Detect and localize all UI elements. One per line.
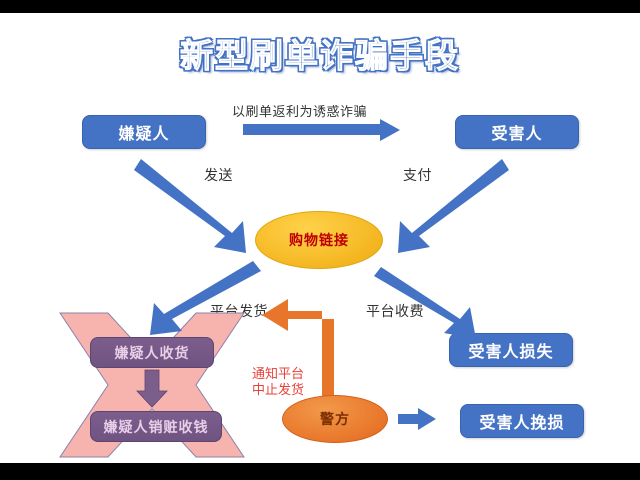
page-title: 新型刷单诈骗手段 bbox=[0, 29, 640, 77]
screenshot-frame: 新型刷单诈骗手段 bbox=[0, 0, 640, 480]
edge-label-notify-platform: 通知平台 中止发货 bbox=[252, 367, 304, 399]
edge-label-pay: 支付 bbox=[403, 165, 432, 185]
arrow-receive-to-fence bbox=[137, 370, 167, 407]
notify-line-2: 中止发货 bbox=[252, 383, 304, 399]
node-suspect-fence[interactable]: 嫌疑人销赃收钱 bbox=[90, 411, 222, 442]
arrow-suspect-to-victim bbox=[243, 119, 400, 141]
node-suspect-receive[interactable]: 嫌疑人收货 bbox=[90, 337, 214, 368]
node-police[interactable]: 警方 bbox=[282, 395, 388, 443]
node-suspect[interactable]: 嫌疑人 bbox=[82, 115, 206, 149]
edge-label-platform-ship: 平台发货 bbox=[210, 301, 268, 321]
node-victim-loss[interactable]: 受害人损失 bbox=[449, 333, 573, 367]
arrow-police-to-recover bbox=[398, 408, 436, 430]
diagram-canvas: 新型刷单诈骗手段 bbox=[0, 13, 640, 463]
node-shopping-link[interactable]: 购物链接 bbox=[255, 211, 383, 269]
edge-label-lure: 以刷单返利为诱惑诈骗 bbox=[232, 101, 367, 120]
arrow-platform-ship bbox=[150, 261, 261, 335]
notify-line-1: 通知平台 bbox=[252, 367, 304, 383]
edge-label-send: 发送 bbox=[204, 165, 233, 185]
edge-label-platform-fee: 平台收费 bbox=[366, 301, 424, 321]
node-victim-recover[interactable]: 受害人挽损 bbox=[460, 404, 584, 438]
node-victim[interactable]: 受害人 bbox=[455, 115, 579, 149]
